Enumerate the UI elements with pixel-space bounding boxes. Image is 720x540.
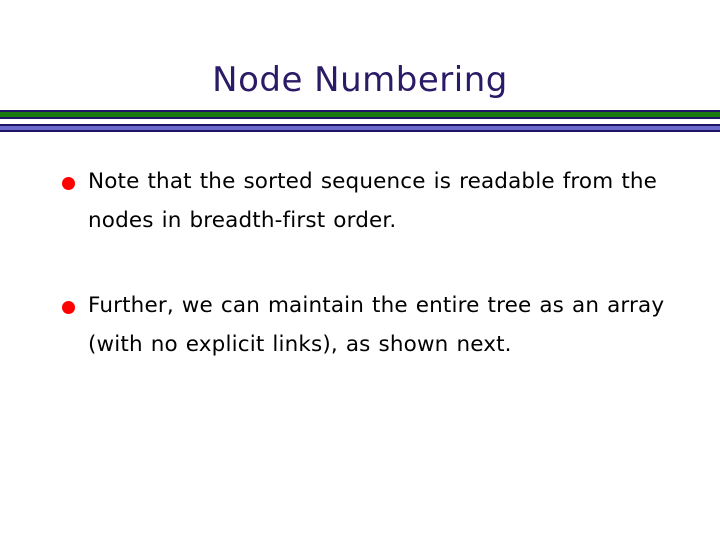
list-item: Further, we can maintain the entire tree… xyxy=(56,286,686,364)
divider-band-green xyxy=(0,110,720,119)
title-divider xyxy=(0,110,720,132)
presentation-slide: Node Numbering Note that the sorted sequ… xyxy=(0,0,720,540)
bullet-circle-icon xyxy=(62,177,75,190)
divider-band-blue xyxy=(0,124,720,132)
bullet-circle-icon xyxy=(62,301,75,314)
slide-body: Note that the sorted sequence is readabl… xyxy=(56,162,686,364)
slide-title-area: Node Numbering xyxy=(0,54,720,106)
page-title: Node Numbering xyxy=(212,63,508,97)
list-item-label: Note that the sorted sequence is readabl… xyxy=(88,169,657,233)
list-item: Note that the sorted sequence is readabl… xyxy=(56,162,686,240)
list-item-label: Further, we can maintain the entire tree… xyxy=(88,293,664,357)
